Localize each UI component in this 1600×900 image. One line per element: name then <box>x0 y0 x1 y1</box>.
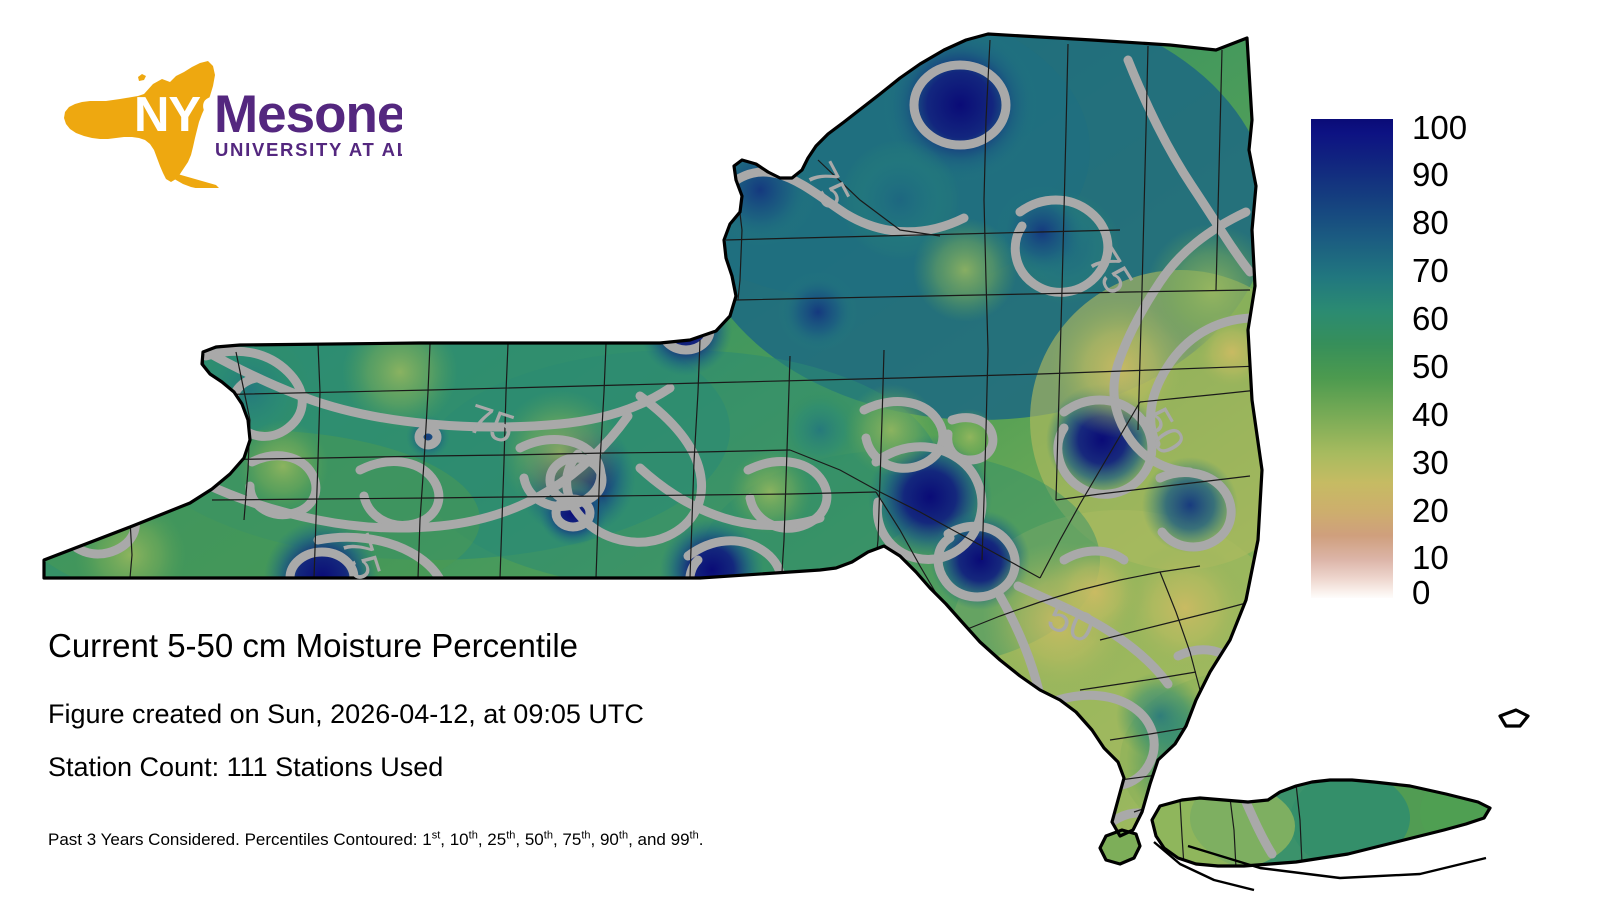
colorbar-tick-100: 100 <box>1412 111 1467 144</box>
colorbar-tick-70: 70 <box>1412 254 1449 287</box>
page-title: Current 5-50 cm Moisture Percentile <box>48 626 578 666</box>
ordinal-suffix: st <box>432 829 441 841</box>
ordinal-suffix: th <box>581 829 590 841</box>
colorbar-tick-80: 80 <box>1412 206 1449 239</box>
ordinal-suffix: th <box>469 829 478 841</box>
ordinal-suffix: th <box>506 829 515 841</box>
colorbar-tick-60: 60 <box>1412 302 1449 335</box>
ordinal-suffix: th <box>619 829 628 841</box>
colorbar-tick-0: 0 <box>1412 576 1430 609</box>
colorbar-tick-50: 50 <box>1412 350 1449 383</box>
ordinal-suffix: th <box>690 829 699 841</box>
colorbar-tick-30: 30 <box>1412 446 1449 479</box>
colorbar-tick-40: 40 <box>1412 398 1449 431</box>
station-count: Station Count: 111 Stations Used <box>48 751 443 784</box>
colorbar <box>1311 119 1393 598</box>
colorbar-tick-10: 10 <box>1412 541 1449 574</box>
colorbar-gradient <box>1311 119 1393 598</box>
colorbar-tick-20: 20 <box>1412 494 1449 527</box>
figure-canvas: NYS Mesonet UNIVERSITY AT ALBANY <box>0 0 1600 900</box>
footnote: Past 3 Years Considered. Percentiles Con… <box>48 829 703 851</box>
creation-timestamp: Figure created on Sun, 2026-04-12, at 09… <box>48 698 644 731</box>
ordinal-suffix: th <box>544 829 553 841</box>
colorbar-tick-90: 90 <box>1412 158 1449 191</box>
